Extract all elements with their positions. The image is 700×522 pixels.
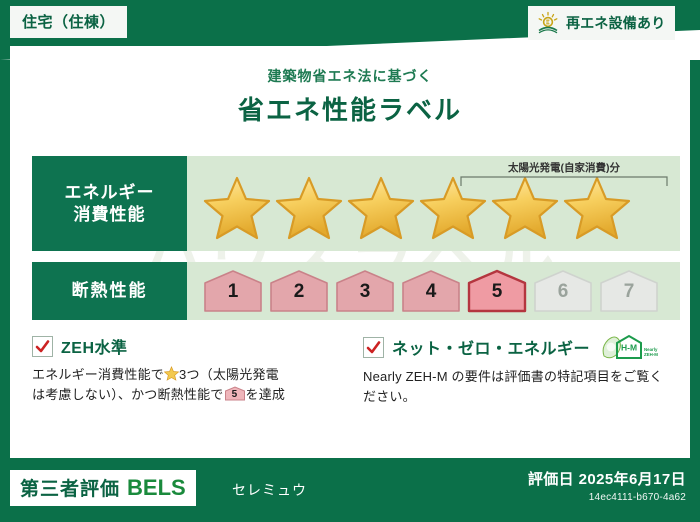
svg-text:H-M: H-M	[621, 343, 637, 353]
building-type-chip: 住宅（住棟）	[10, 6, 127, 38]
third-party-evaluation-label: 第三者評価	[20, 474, 120, 501]
energy-label-line1: エネルギー	[65, 182, 155, 203]
insulation-level-number: 1	[201, 281, 265, 303]
title-main: 省エネ性能ラベル	[10, 90, 690, 127]
net-zero-energy-description: Nearly ZEH-M の要件は評価書の特記項目をご覧ください。	[363, 367, 670, 407]
renewable-badge-label: 再エネ設備あり	[566, 13, 665, 33]
insulation-level-number: 4	[399, 281, 463, 303]
zeh-standard-section: ZEH水準 エネルギー消費性能で3つ（太陽光発電 は考慮しない）、かつ断熱性能で…	[32, 334, 349, 407]
insulation-level-badge: 2	[267, 269, 331, 313]
bels-certification-chip: 第三者評価 BELS	[10, 470, 196, 506]
insulation-badge-inline-number: 5	[224, 387, 246, 403]
insulation-level-number: 7	[597, 281, 661, 303]
zeh-desc-part2: は考慮しない）、かつ断熱性能で	[32, 387, 224, 402]
building-type-label: 住宅（住棟）	[22, 14, 115, 31]
insulation-body: 1 2 3	[187, 262, 680, 320]
zeh-desc-part3: を達成	[246, 387, 286, 402]
insulation-performance-row: 断熱性能 1 2	[32, 262, 680, 320]
insulation-badge-inline: 5	[224, 386, 246, 401]
vendor-name: セレミュウ	[232, 480, 307, 500]
insulation-level-number: 3	[333, 281, 397, 303]
footer-bar: 第三者評価 BELS セレミュウ 評価日 2025年6月17日 14ec4111…	[0, 458, 700, 522]
insulation-level-scale: 1 2 3	[187, 269, 661, 313]
net-zero-energy-checkbox[interactable]	[363, 337, 384, 358]
zeh-standard-title: ZEH水準	[61, 334, 128, 358]
energy-performance-body: 太陽光発電(自家消費)分	[187, 156, 680, 251]
sun-icon	[536, 11, 560, 35]
solar-span-bracket	[460, 176, 668, 186]
zeh-desc-star-count: 3つ（太陽光発電	[179, 367, 279, 382]
energy-performance-row: エネルギー 消費性能 太陽光発電(自家消費)分	[32, 156, 680, 251]
insulation-level-badge-current: 5	[465, 269, 529, 313]
zeh-standard-description: エネルギー消費性能で3つ（太陽光発電 は考慮しない）、かつ断熱性能で5を達成	[32, 365, 339, 405]
insulation-level-badge: 6	[531, 269, 595, 313]
certification-info: ZEH水準 エネルギー消費性能で3つ（太陽光発電 は考慮しない）、かつ断熱性能で…	[32, 334, 680, 407]
check-icon	[366, 340, 381, 355]
insulation-level-badge: 4	[399, 269, 463, 313]
insulation-level-badge: 1	[201, 269, 265, 313]
nearly-zeh-m-logo-icon: H-M Nearly ZEH-M	[602, 334, 660, 360]
zeh-standard-header: ZEH水準	[32, 334, 339, 358]
insulation-level-number: 2	[267, 281, 331, 303]
svg-text:ZEH-M: ZEH-M	[644, 352, 658, 357]
net-zero-energy-title: ネット・ゼロ・エネルギー	[392, 335, 590, 359]
net-zero-energy-header: ネット・ゼロ・エネルギー H-M Nearly ZEH-M	[363, 334, 670, 360]
insulation-label: 断熱性能	[72, 280, 148, 301]
insulation-level-badge: 3	[333, 269, 397, 313]
title-block: 建築物省エネ法に基づく 省エネ性能ラベル	[10, 66, 690, 127]
label-card: ハウスラベル 建築物省エネ法に基づく 省エネ性能ラベル エネルギー 消費性能 太…	[10, 46, 690, 458]
zeh-desc-part1: エネルギー消費性能で	[32, 367, 164, 382]
insulation-level-number: 6	[531, 281, 595, 303]
insulation-level-badge: 7	[597, 269, 661, 313]
energy-performance-label: 住宅（住棟） 再エネ設備あり ハウスラベル 建築物省エネ法に基づく 省エネ性能ラ…	[0, 0, 700, 522]
solar-generation-annotation: 太陽光発電(自家消費)分	[460, 160, 668, 186]
title-subtitle: 建築物省エネ法に基づく	[10, 66, 690, 86]
net-zero-energy-section: ネット・ゼロ・エネルギー H-M Nearly ZEH-M Nearly ZEH…	[349, 334, 680, 407]
insulation-level-number: 5	[465, 281, 529, 303]
check-icon	[35, 339, 50, 354]
star-icon	[203, 175, 271, 241]
evaluation-date: 評価日 2025年6月17日	[528, 468, 686, 489]
insulation-label-panel: 断熱性能	[32, 262, 187, 320]
star-icon	[347, 175, 415, 241]
energy-performance-label-panel: エネルギー 消費性能	[32, 156, 187, 251]
zeh-standard-checkbox[interactable]	[32, 336, 53, 357]
star-icon	[275, 175, 343, 241]
star-icon-inline	[164, 366, 179, 381]
evaluation-id: 14ec4111-b670-4a62	[528, 492, 686, 503]
bels-logo-text: BELS	[127, 475, 186, 501]
renewable-equipment-badge: 再エネ設備あり	[528, 6, 675, 40]
solar-annotation-label: 太陽光発電(自家消費)分	[460, 160, 668, 175]
energy-label-line2: 消費性能	[65, 204, 155, 225]
evaluation-meta: 評価日 2025年6月17日 14ec4111-b670-4a62	[528, 468, 686, 503]
